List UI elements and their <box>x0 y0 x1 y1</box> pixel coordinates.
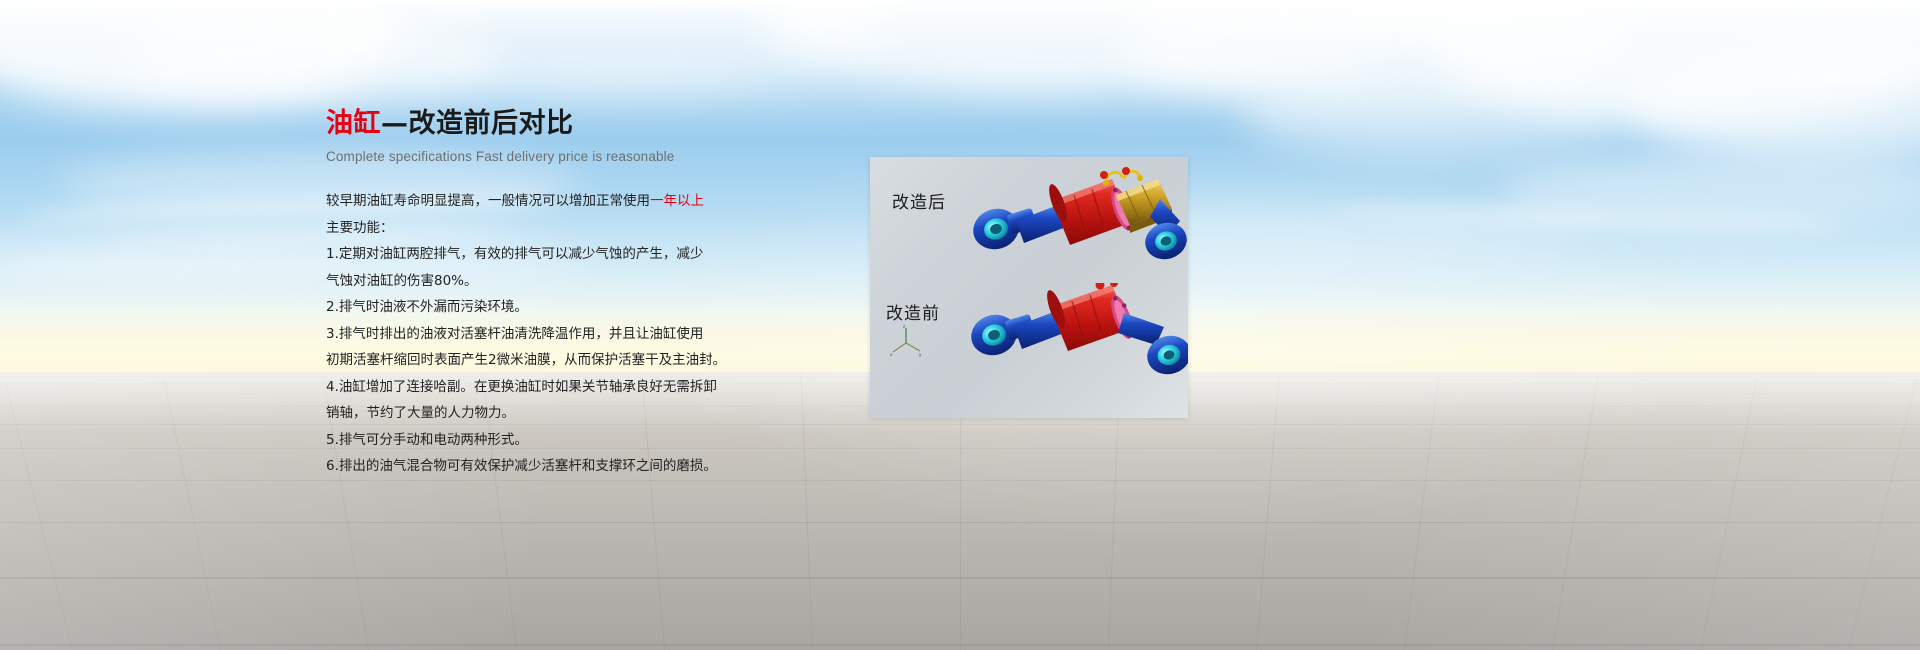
feature-line: 1.定期对油缸两腔排气，有效的排气可以减少气蚀的产生，减少 <box>326 241 746 268</box>
banner-stage: 油缸—改造前后对比 Complete specifications Fast d… <box>0 0 1920 650</box>
feature-line-highlight: 一年以上 <box>650 193 704 209</box>
feature-line: 5.排气可分手动和电动两种形式。 <box>326 427 746 454</box>
ground-perspective-line <box>1552 376 1598 650</box>
ground-grid-line <box>0 577 1920 579</box>
feature-line: 2.排气时油液不外漏而污染环境。 <box>326 294 746 321</box>
feature-list: 较早期油缸寿命明显提高，一般情况可以增加正常使用一年以上 主要功能： 1.定期对… <box>326 188 746 480</box>
feature-line: 3.排气时排出的油液对活塞杆油清洗降温作用，并且让油缸使用 <box>326 321 746 348</box>
feature-line: 6.排出的油气混合物可有效保护减少活塞杆和支撑环之间的磨损。 <box>326 453 746 480</box>
product-comparison-image: 改造后 改造前 z x y <box>870 157 1188 418</box>
ground-perspective-line <box>4 380 73 650</box>
ground-perspective-line <box>801 372 813 650</box>
page-title-rest: —改造前后对比 <box>381 108 574 139</box>
ground-perspective-line <box>1700 378 1758 650</box>
hydraulic-cylinder-after-illustration <box>954 165 1188 285</box>
feature-line: 销轴，节约了大量的人力物力。 <box>326 400 746 427</box>
page-title-highlight: 油缸 <box>326 108 381 139</box>
label-after-modification: 改造后 <box>892 188 946 213</box>
ground-grid-line <box>0 522 1920 523</box>
feature-line: 主要功能： <box>326 215 746 242</box>
feature-line: 初期活塞杆缩回时表面产生2微米油膜，从而保护活塞干及主油封。 <box>326 347 746 374</box>
feature-line: 气蚀对油缸的伤害80%。 <box>326 268 746 295</box>
ground-perspective-line <box>1256 373 1280 650</box>
ground-perspective-line <box>1848 380 1917 650</box>
feature-line-text: 较早期油缸寿命明显提高，一般情况可以增加正常使用 <box>326 193 650 209</box>
page-subtitle: Complete specifications Fast delivery pr… <box>326 149 746 164</box>
cloud-shape <box>1240 70 1620 160</box>
hydraulic-cylinder-before-illustration <box>954 283 1188 403</box>
page-title: 油缸—改造前后对比 <box>326 108 746 140</box>
ground-grid-line <box>0 480 1920 481</box>
ground-grid-line <box>0 448 1920 449</box>
svg-text:x: x <box>890 352 893 357</box>
ground-perspective-line <box>163 378 221 650</box>
ground-perspective-line <box>1404 374 1439 650</box>
svg-text:y: y <box>919 352 922 357</box>
feature-line: 较早期油缸寿命明显提高，一般情况可以增加正常使用一年以上 <box>326 188 746 215</box>
ground-grid-line <box>0 424 1920 425</box>
svg-text:z: z <box>903 325 905 329</box>
axis-triad-icon: z x y <box>890 325 924 357</box>
label-before-modification: 改造前 <box>886 299 940 324</box>
cloud-shape <box>200 60 1100 106</box>
banner-copy: 油缸—改造前后对比 Complete specifications Fast d… <box>326 108 746 480</box>
feature-line: 4.油缸增加了连接哈副。在更换油缸时如果关节轴承良好无需拆卸 <box>326 374 746 401</box>
ground-grid-line <box>0 644 1920 646</box>
